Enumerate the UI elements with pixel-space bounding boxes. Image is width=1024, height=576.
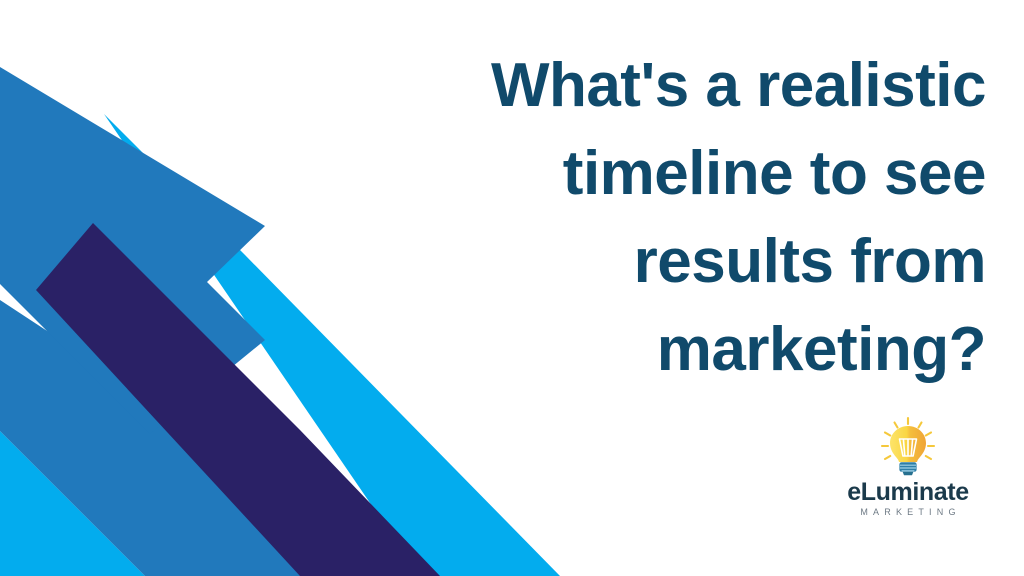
slide-canvas: What's a realistic timeline to see resul… bbox=[0, 0, 1024, 576]
cyan-band-lower bbox=[0, 431, 145, 576]
logo-tagline: MARKETING bbox=[855, 508, 960, 517]
lightbulb-base bbox=[899, 462, 916, 475]
medium-blue-band-upper bbox=[0, 67, 265, 434]
brand-logo: eLuminate MARKETING bbox=[843, 415, 973, 523]
lightbulb-icon bbox=[876, 415, 940, 479]
navy-band bbox=[36, 223, 440, 576]
medium-blue-band-lower bbox=[0, 300, 420, 576]
page-title: What's a realistic timeline to see resul… bbox=[426, 42, 986, 394]
logo-wordmark: eLuminate bbox=[847, 480, 968, 505]
